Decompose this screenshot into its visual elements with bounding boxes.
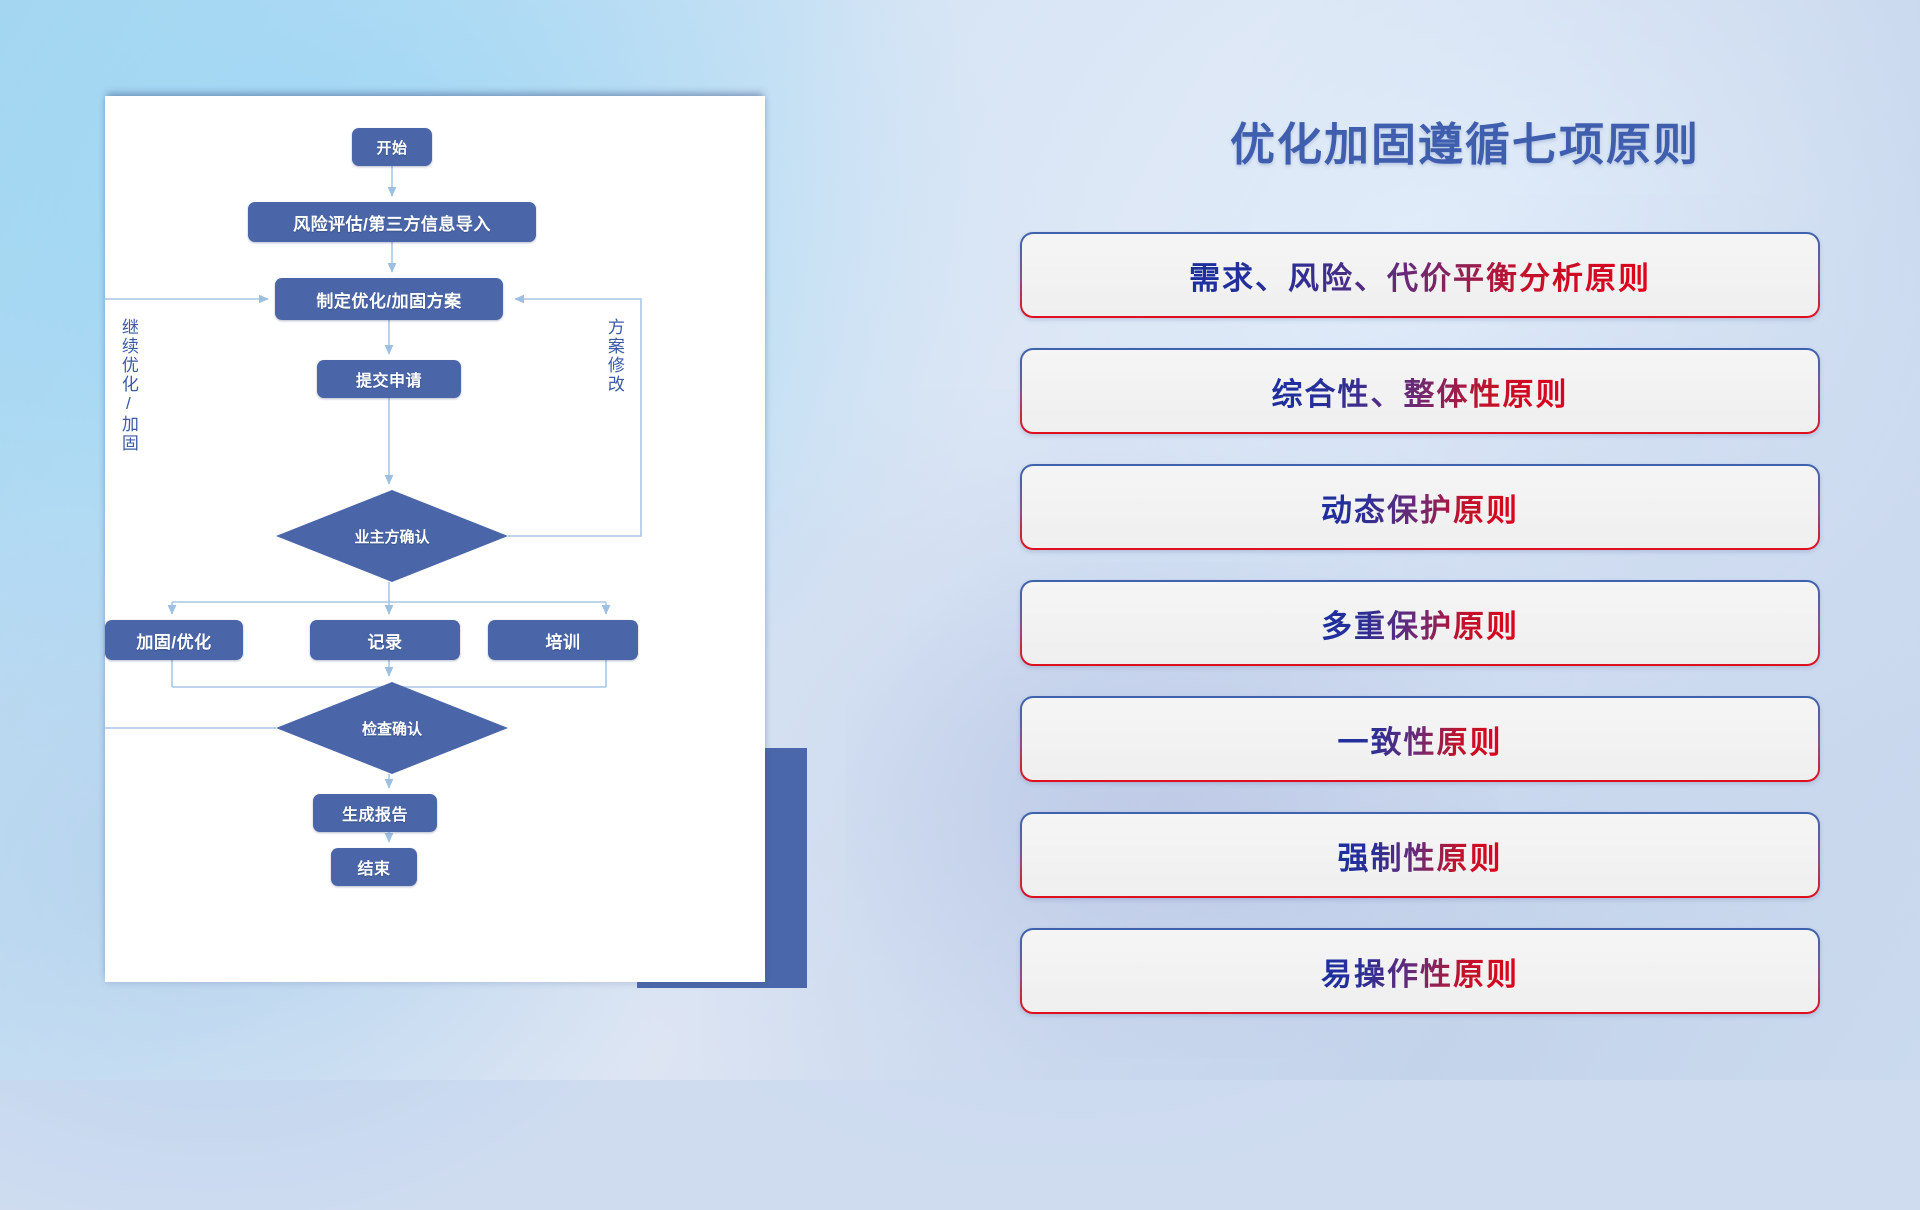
flow-node-start[interactable]: 开始: [352, 128, 432, 166]
principle-card-inner: 强制性原则: [1022, 814, 1818, 896]
flow-node-owner-confirm-label: 业主方确认: [276, 490, 508, 582]
flow-edge-label-continue-optimize: 继续优化/加固: [119, 318, 137, 453]
principles-list: 需求、风险、代价平衡分析原则 综合性、整体性原则 动态保护原则 多重保护原则 一…: [1020, 232, 1820, 1044]
flowchart-panel: 开始 风险评估/第三方信息导入 制定优化/加固方案 提交申请 业主方确认 加固/…: [0, 0, 880, 1080]
principle-card-label: 易操作性原则: [1321, 949, 1519, 994]
principle-card[interactable]: 动态保护原则: [1020, 464, 1820, 550]
flow-node-check-confirm-label: 检查确认: [276, 682, 508, 774]
principle-card[interactable]: 多重保护原则: [1020, 580, 1820, 666]
principle-card-inner: 动态保护原则: [1022, 466, 1818, 548]
flow-node-make-plan[interactable]: 制定优化/加固方案: [275, 278, 503, 320]
flow-node-end[interactable]: 结束: [331, 848, 417, 886]
principles-title: 优化加固遵循七项原则: [1145, 108, 1785, 173]
flow-node-record[interactable]: 记录: [310, 620, 460, 660]
principle-card-label: 强制性原则: [1338, 833, 1503, 878]
flow-node-generate-report[interactable]: 生成报告: [313, 794, 437, 832]
flow-node-training[interactable]: 培训: [488, 620, 638, 660]
principle-card-label: 动态保护原则: [1321, 485, 1519, 530]
principle-card[interactable]: 需求、风险、代价平衡分析原则: [1020, 232, 1820, 318]
principle-card[interactable]: 一致性原则: [1020, 696, 1820, 782]
flow-node-reinforce-optimize[interactable]: 加固/优化: [105, 620, 243, 660]
flow-node-risk-assessment[interactable]: 风险评估/第三方信息导入: [248, 202, 536, 242]
principle-card-inner: 易操作性原则: [1022, 930, 1818, 1012]
principle-card[interactable]: 易操作性原则: [1020, 928, 1820, 1014]
principle-card[interactable]: 强制性原则: [1020, 812, 1820, 898]
principle-card[interactable]: 综合性、整体性原则: [1020, 348, 1820, 434]
principle-card-label: 多重保护原则: [1321, 601, 1519, 646]
flow-edge-label-plan-revision: 方案修改: [605, 318, 623, 394]
principle-card-label: 需求、风险、代价平衡分析原则: [1189, 253, 1651, 298]
principle-card-label: 一致性原则: [1338, 717, 1503, 762]
flow-node-owner-confirm[interactable]: 业主方确认: [276, 490, 508, 582]
flow-node-submit-application[interactable]: 提交申请: [317, 360, 461, 398]
principles-panel: 优化加固遵循七项原则 需求、风险、代价平衡分析原则 综合性、整体性原则 动态保护…: [1000, 0, 1920, 1080]
principle-card-label: 综合性、整体性原则: [1272, 369, 1569, 414]
flow-node-check-confirm[interactable]: 检查确认: [276, 682, 508, 774]
principle-card-inner: 多重保护原则: [1022, 582, 1818, 664]
principle-card-inner: 需求、风险、代价平衡分析原则: [1022, 234, 1818, 316]
flowchart-diagram: 开始 风险评估/第三方信息导入 制定优化/加固方案 提交申请 业主方确认 加固/…: [105, 96, 765, 982]
principle-card-inner: 综合性、整体性原则: [1022, 350, 1818, 432]
principle-card-inner: 一致性原则: [1022, 698, 1818, 780]
